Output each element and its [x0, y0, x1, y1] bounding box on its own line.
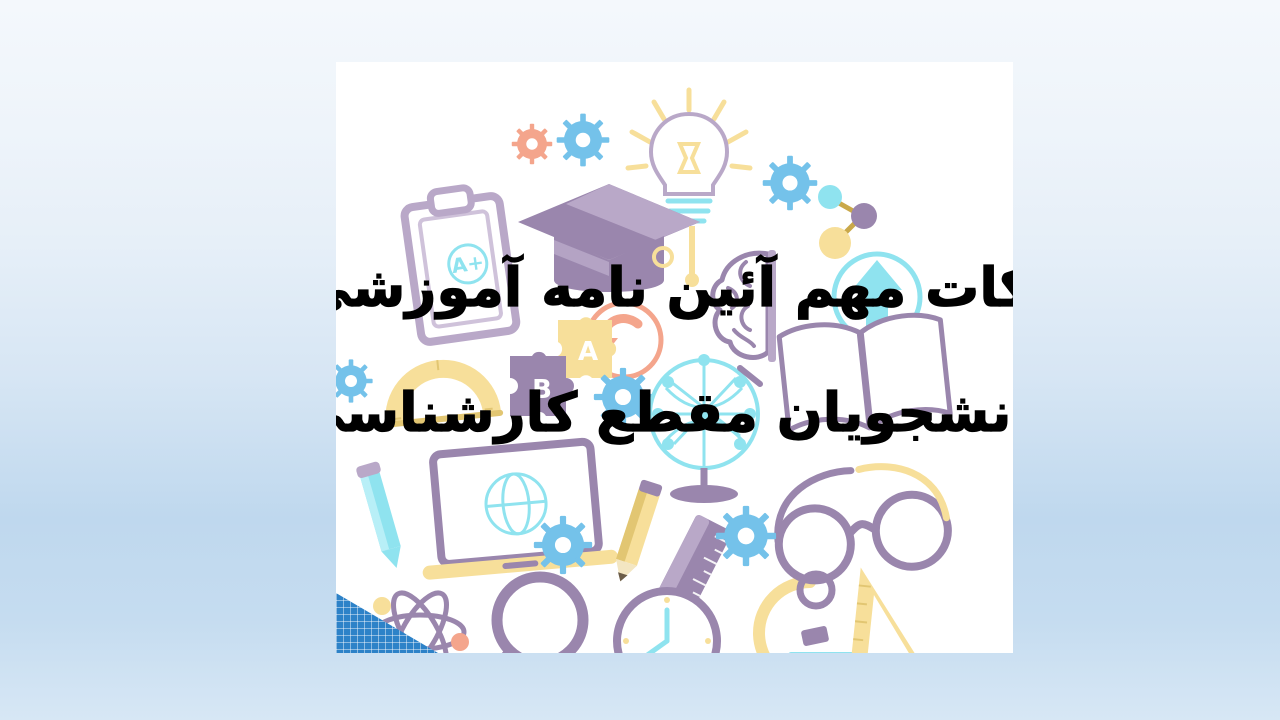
content-card: A+: [336, 62, 1013, 653]
title-line-secondary: دانشجویان مقطع کارشناسی: [336, 385, 1013, 442]
title-block: نکات مهم آئین نامه آموزشی دانشجویان مقطع…: [336, 62, 1013, 653]
slide-root: A+: [0, 0, 1280, 720]
title-line-primary: نکات مهم آئین نامه آموزشی: [336, 260, 1013, 317]
